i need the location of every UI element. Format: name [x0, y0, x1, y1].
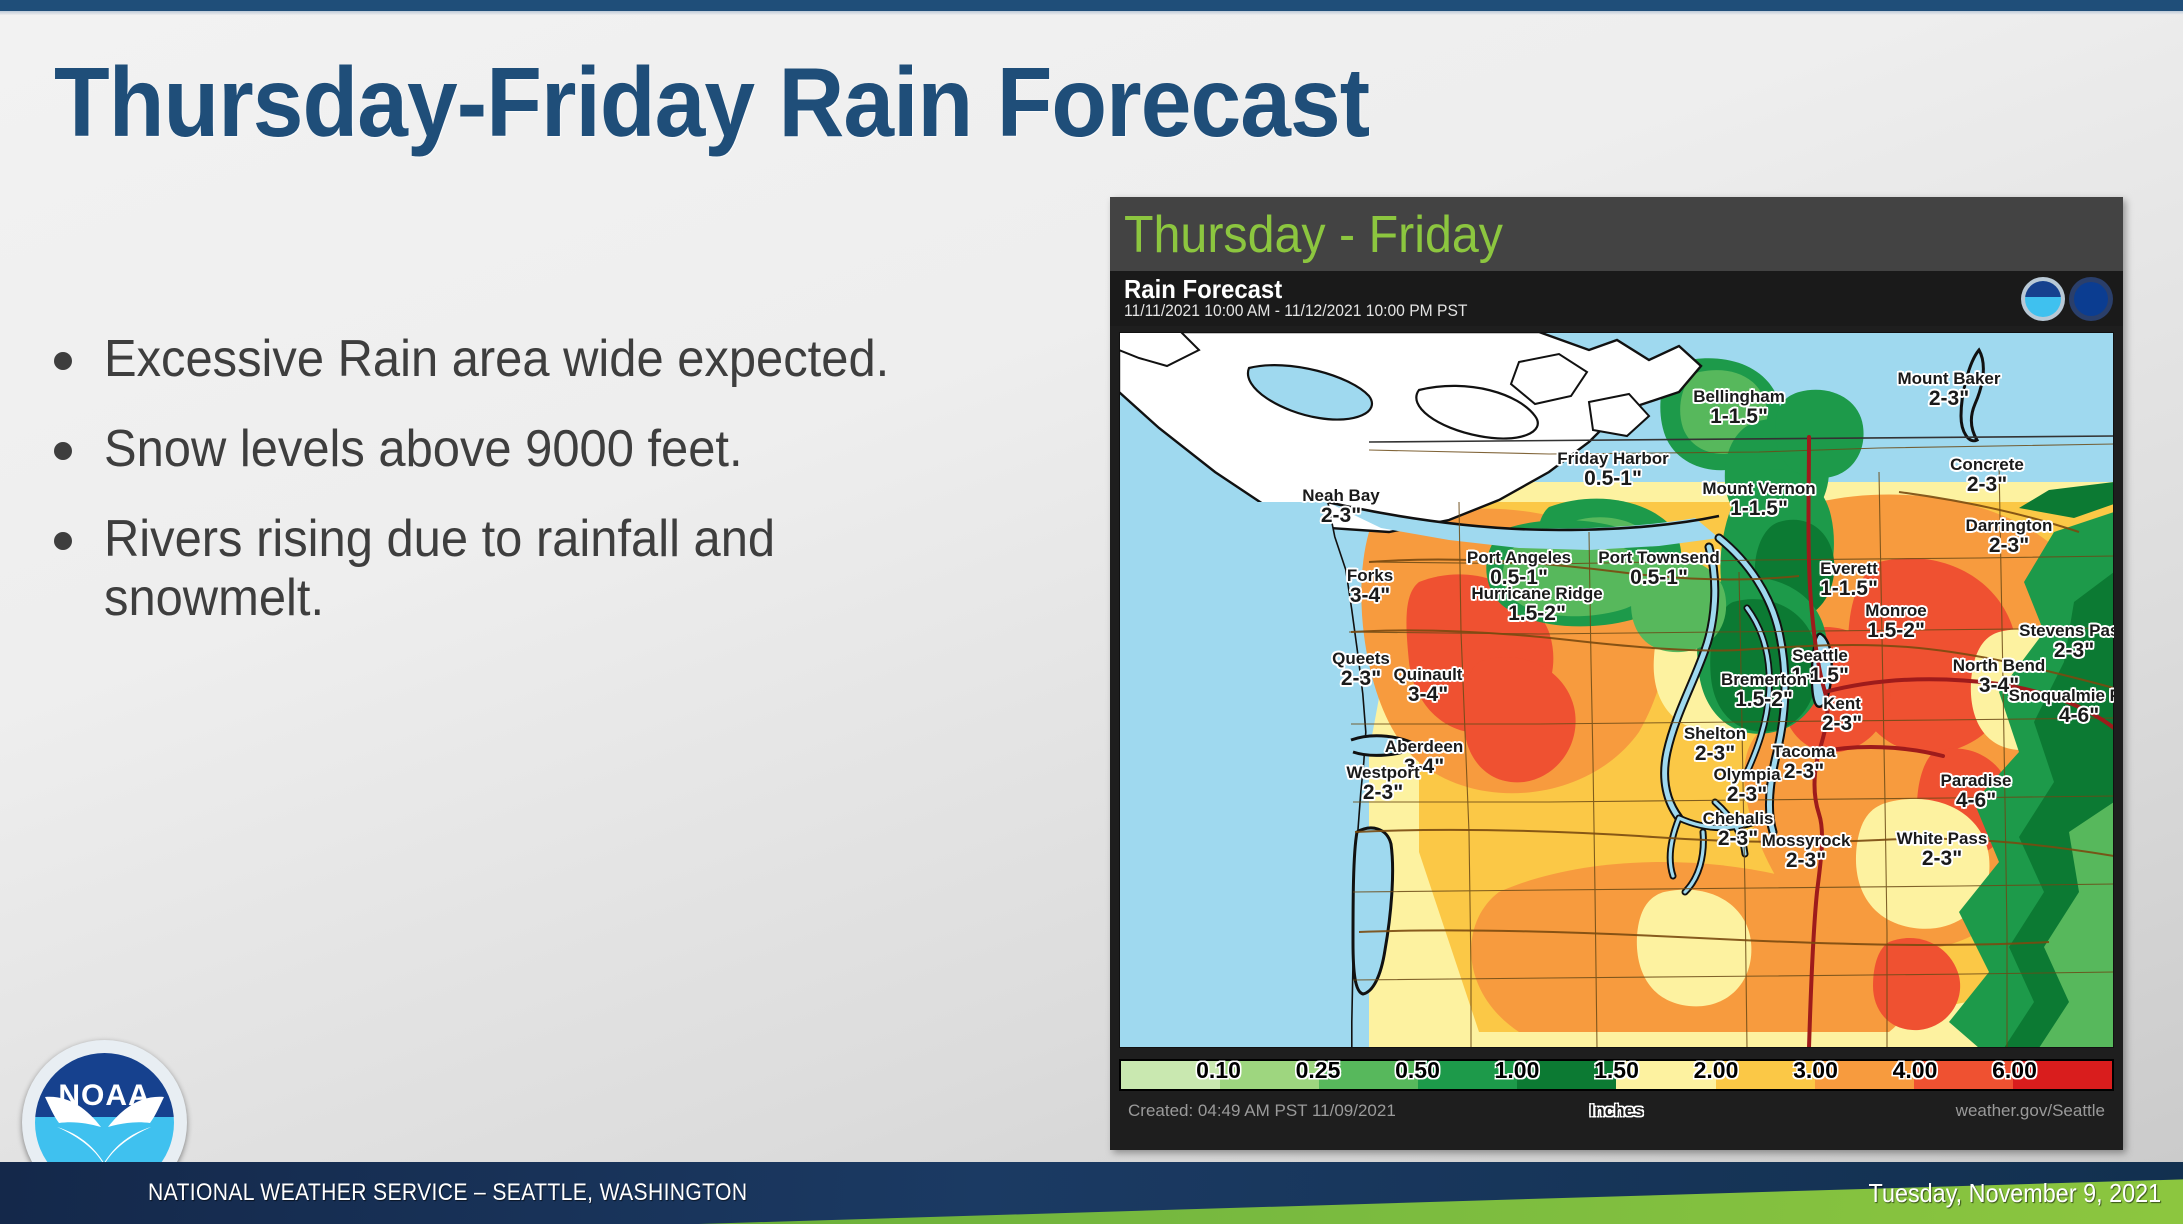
bullet-text: Excessive Rain area wide expected.: [104, 330, 889, 388]
colorbar-tick-1.00: 1.00: [1495, 1057, 1540, 1084]
city-rain-amount: 1.5-2": [1471, 603, 1602, 626]
city-name: Chehalis: [1703, 810, 1774, 828]
city-rain-amount: 2-3": [1822, 713, 1862, 736]
city-rain-amount: 0.5-1": [1598, 567, 1720, 590]
map-city-label: Bremerton1.5-2": [1721, 671, 1807, 712]
map-day-header: Thursday - Friday: [1110, 197, 2123, 271]
city-name: Bellingham: [1693, 388, 1785, 406]
city-rain-amount: 2-3": [1950, 474, 2024, 497]
city-rain-amount: 2-3": [1898, 388, 2001, 411]
city-name: Concrete: [1950, 456, 2024, 474]
noaa-bird-icon: [43, 1093, 166, 1167]
map-valid-period: 11/11/2021 10:00 AM - 11/12/2021 10:00 P…: [1124, 301, 1467, 321]
city-name: Snoqualmie Pass: [2009, 687, 2114, 705]
map-city-label: Quinault3-4": [1394, 666, 1463, 707]
city-name: Shelton: [1684, 725, 1746, 743]
city-name: Kent: [1822, 695, 1862, 713]
city-name: Mount Vernon: [1702, 480, 1815, 498]
bullet-text: Rivers rising due to rainfall and snowme…: [104, 510, 1006, 626]
city-name: Forks: [1347, 567, 1393, 585]
map-city-label: Olympia2-3": [1713, 766, 1780, 807]
map-city-label: Queets2-3": [1332, 650, 1390, 691]
city-rain-amount: 0.5-1": [1557, 468, 1668, 491]
noaa-mini-logo-icon: [2021, 277, 2065, 321]
colorbar-tick-6.00: 6.00: [1992, 1057, 2037, 1084]
city-rain-amount: 4-6": [1941, 790, 2012, 813]
city-name: Port Townsend: [1598, 549, 1720, 567]
city-name: Queets: [1332, 650, 1390, 668]
city-name: Port Angeles: [1467, 549, 1571, 567]
city-name: Westport: [1346, 764, 1419, 782]
map-source-url[interactable]: weather.gov/Seattle: [1956, 1101, 2105, 1121]
colorbar-tick-0.50: 0.50: [1395, 1057, 1440, 1084]
map-agency-logos: [2021, 277, 2113, 321]
map-city-label: Mount Baker2-3": [1898, 370, 2001, 411]
city-name: Friday Harbor: [1557, 450, 1668, 468]
colorbar-tick-1.50: 1.50: [1594, 1057, 1639, 1084]
bullet-text: Snow levels above 9000 feet.: [104, 420, 743, 478]
colorbar-tick-3.00: 3.00: [1793, 1057, 1838, 1084]
map-city-label: Friday Harbor0.5-1": [1557, 450, 1668, 491]
city-name: Neah Bay: [1302, 487, 1379, 505]
colorbar-tick-0.10: 0.10: [1196, 1057, 1241, 1084]
map-created-timestamp: Created: 04:49 AM PST 11/09/2021: [1128, 1101, 1396, 1121]
map-city-label: Mossyrock2-3": [1762, 832, 1851, 873]
city-rain-amount: 2-3": [1966, 535, 2053, 558]
city-name: Tacoma: [1773, 743, 1836, 761]
city-name: Everett: [1820, 560, 1878, 578]
page-title: Thursday-Friday Rain Forecast: [54, 46, 1369, 159]
colorbar-tick-0.25: 0.25: [1296, 1057, 1341, 1084]
bullet-dot-icon: [54, 442, 72, 460]
map-city-label: Everett1-1.5": [1820, 560, 1878, 601]
map-city-label: Bellingham1-1.5": [1693, 388, 1785, 429]
map-units-label: Inches: [1590, 1101, 1644, 1121]
city-rain-amount: 1-1.5": [1820, 578, 1878, 601]
map-city-label: Tacoma2-3": [1773, 743, 1836, 784]
city-name: Mount Baker: [1898, 370, 2001, 388]
precipitation-map[interactable]: Bellingham1-1.5"Mount Baker2-3"Concrete2…: [1119, 332, 2114, 1048]
city-name: Seattle: [1791, 647, 1849, 665]
map-day-title: Thursday - Friday: [1124, 205, 1503, 265]
bullet-dot-icon: [54, 532, 72, 550]
map-city-label: Hurricane Ridge1.5-2": [1471, 585, 1602, 626]
map-city-label: Snoqualmie Pass4-6": [2009, 687, 2114, 728]
map-city-label: Paradise4-6": [1941, 772, 2012, 813]
city-rain-amount: 1.5-2": [1865, 620, 1926, 643]
colorbar-tick-2.00: 2.00: [1694, 1057, 1739, 1084]
colorbar-tick-4.00: 4.00: [1893, 1057, 1938, 1084]
map-city-label: Darrington2-3": [1966, 517, 2053, 558]
city-name: Paradise: [1941, 772, 2012, 790]
map-title-bar: Rain Forecast 11/11/2021 10:00 AM - 11/1…: [1110, 271, 2123, 326]
city-rain-amount: 2-3": [1713, 784, 1780, 807]
city-rain-amount: 2-3": [1897, 848, 1988, 871]
city-rain-amount: 1.5-2": [1721, 689, 1807, 712]
city-rain-amount: 2-3": [1346, 782, 1419, 805]
city-rain-amount: 2-3": [1773, 761, 1836, 784]
map-city-label: Concrete2-3": [1950, 456, 2024, 497]
city-name: Stevens Pass: [2019, 622, 2114, 640]
map-city-label: Westport2-3": [1346, 764, 1419, 805]
city-rain-amount: 1-1.5": [1693, 406, 1785, 429]
city-name: Hurricane Ridge: [1471, 585, 1602, 603]
list-item: Rivers rising due to rainfall and snowme…: [54, 510, 1064, 626]
nws-mini-logo-icon: [2069, 277, 2113, 321]
map-city-label: Shelton2-3": [1684, 725, 1746, 766]
city-name: White Pass: [1897, 830, 1988, 848]
city-rain-amount: 2-3": [1684, 743, 1746, 766]
bullet-list: Excessive Rain area wide expected. Snow …: [54, 330, 1064, 659]
map-city-label: Neah Bay2-3": [1302, 487, 1379, 528]
map-footer-row: Created: 04:49 AM PST 11/09/2021 Inches …: [1110, 1097, 2123, 1137]
city-name: North Bend: [1953, 657, 2046, 675]
city-rain-amount: 3-4": [1347, 585, 1393, 608]
city-name: Olympia: [1713, 766, 1780, 784]
map-city-label: Port Townsend0.5-1": [1598, 549, 1720, 590]
city-rain-amount: 4-6": [2009, 705, 2114, 728]
list-item: Snow levels above 9000 feet.: [54, 420, 1064, 478]
footer-office-name: NATIONAL WEATHER SERVICE – SEATTLE, WASH…: [148, 1179, 747, 1207]
city-name: Mossyrock: [1762, 832, 1851, 850]
map-city-label: Forks3-4": [1347, 567, 1393, 608]
city-name: Bremerton: [1721, 671, 1807, 689]
list-item: Excessive Rain area wide expected.: [54, 330, 1064, 388]
top-accent-shadow: [0, 11, 2183, 15]
slide-footer: NATIONAL WEATHER SERVICE – SEATTLE, WASH…: [0, 1162, 2183, 1224]
map-city-label: White Pass2-3": [1897, 830, 1988, 871]
city-rain-amount: 2-3": [1332, 668, 1390, 691]
colorbar-tick-labels: 0.100.250.501.001.502.003.004.006.00: [1119, 1055, 2114, 1083]
city-rain-amount: 2-3": [1762, 850, 1851, 873]
top-accent-bar: [0, 0, 2183, 11]
map-city-label: Monroe1.5-2": [1865, 602, 1926, 643]
precipitation-colorbar: 0.100.250.501.001.502.003.004.006.00: [1119, 1055, 2114, 1095]
map-city-label: Mount Vernon1-1.5": [1702, 480, 1815, 521]
rain-forecast-map-panel[interactable]: Thursday - Friday Rain Forecast 11/11/20…: [1110, 197, 2123, 1150]
city-rain-amount: 2-3": [1302, 505, 1379, 528]
city-name: Darrington: [1966, 517, 2053, 535]
city-name: Aberdeen: [1385, 738, 1463, 756]
city-rain-amount: 1-1.5": [1702, 498, 1815, 521]
map-city-label: Kent2-3": [1822, 695, 1862, 736]
city-name: Quinault: [1394, 666, 1463, 684]
footer-date: Tuesday, November 9, 2021: [1868, 1178, 2161, 1209]
bullet-dot-icon: [54, 352, 72, 370]
city-rain-amount: 3-4": [1394, 684, 1463, 707]
city-name: Monroe: [1865, 602, 1926, 620]
